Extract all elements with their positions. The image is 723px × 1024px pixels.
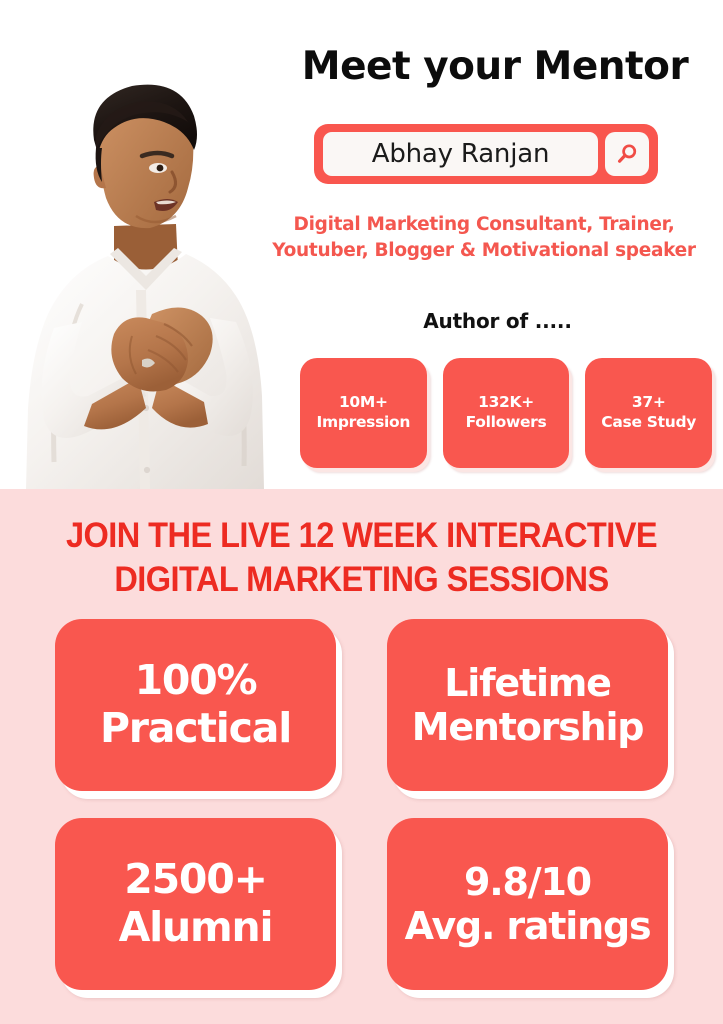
- stats-row: 10M+ Impression 132K+ Followers 37+ Case…: [300, 358, 712, 468]
- stat-value: 37+: [632, 393, 666, 413]
- search-input[interactable]: Abhay Ranjan: [323, 132, 598, 176]
- stat-value: 10M+: [339, 393, 388, 413]
- mentor-subtitle-line-2: Youtuber, Blogger & Motivational speaker: [245, 238, 723, 264]
- stat-label: Impression: [317, 413, 411, 433]
- stat-label: Followers: [466, 413, 547, 433]
- mentor-subtitle: Digital Marketing Consultant, Trainer, Y…: [245, 212, 723, 265]
- stat-label: Case Study: [601, 413, 696, 433]
- feature-line-1: 9.8/10: [464, 860, 591, 904]
- search-icon: [614, 141, 640, 167]
- search-input-value: Abhay Ranjan: [372, 139, 550, 169]
- mentor-subtitle-line-1: Digital Marketing Consultant, Trainer,: [245, 212, 723, 238]
- feature-line-1: 100%: [135, 657, 257, 705]
- search-bar[interactable]: Abhay Ranjan: [314, 124, 658, 184]
- feature-line-2: Practical: [100, 705, 291, 753]
- stat-value: 132K+: [478, 393, 534, 413]
- feature-card-alumni: 2500+ Alumni: [55, 818, 336, 990]
- promotional-poster: Meet your Mentor Abhay Ranjan Digital Ma…: [0, 0, 723, 1024]
- feature-card-mentorship: Lifetime Mentorship: [387, 619, 668, 791]
- promo-heading: JOIN THE LIVE 12 WEEK INTERACTIVE DIGITA…: [25, 514, 697, 602]
- course-promo-section: JOIN THE LIVE 12 WEEK INTERACTIVE DIGITA…: [0, 489, 723, 1024]
- stat-card-case-study: 37+ Case Study: [585, 358, 712, 468]
- search-button[interactable]: [605, 132, 649, 176]
- feature-card-practical: 100% Practical: [55, 619, 336, 791]
- feature-card-ratings: 9.8/10 Avg. ratings: [387, 818, 668, 990]
- feature-grid: 100% Practical Lifetime Mentorship 2500+…: [55, 619, 668, 990]
- mentor-intro-section: Meet your Mentor Abhay Ranjan Digital Ma…: [0, 0, 723, 489]
- stat-card-impressions: 10M+ Impression: [300, 358, 427, 468]
- page-title: Meet your Mentor: [295, 47, 695, 86]
- author-of-label: Author of .....: [300, 309, 695, 333]
- feature-line-2: Avg. ratings: [405, 904, 651, 948]
- promo-heading-line-1: JOIN THE LIVE 12 WEEK INTERACTIVE: [25, 514, 697, 558]
- feature-line-2: Alumni: [119, 904, 273, 952]
- promo-heading-line-2: DIGITAL MARKETING SESSIONS: [25, 558, 697, 602]
- feature-line-2: Mentorship: [412, 705, 644, 749]
- stat-card-followers: 132K+ Followers: [443, 358, 570, 468]
- mentor-photo: [0, 78, 296, 489]
- feature-line-1: 2500+: [124, 856, 266, 904]
- feature-line-1: Lifetime: [444, 661, 611, 705]
